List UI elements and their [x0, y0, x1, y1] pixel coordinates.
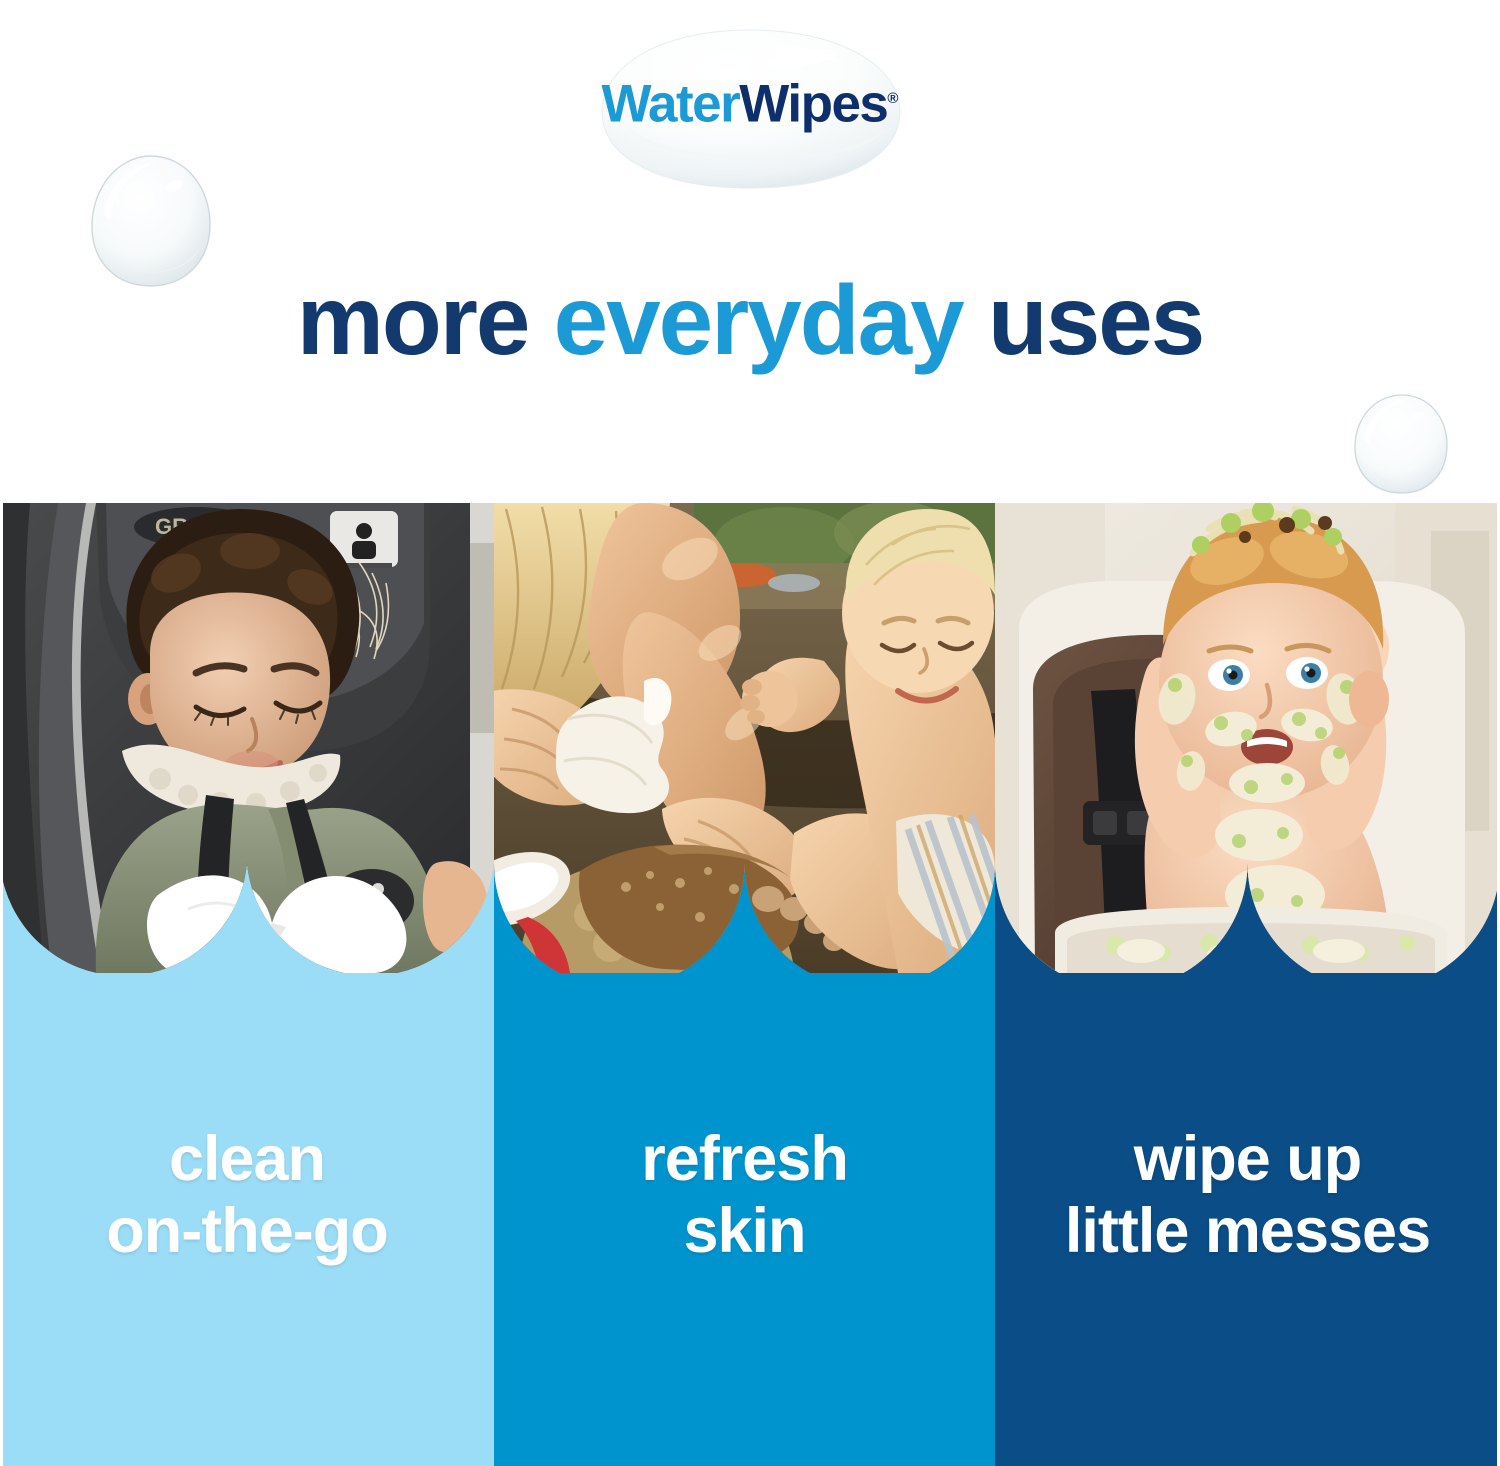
caption-line-1: refresh [494, 1123, 995, 1195]
panel-caption-clean-on-the-go: clean on-the-go [0, 1123, 494, 1267]
panel-clean-on-the-go[interactable]: GRACO [0, 503, 494, 1466]
logo-word-wipes: Wipes [739, 75, 887, 134]
brand-wordmark: WaterWipes® [540, 70, 960, 134]
panel-wipe-up-little-messes[interactable]: wipe up little messes [995, 503, 1500, 1466]
everyday-uses-panels: GRACO [0, 503, 1500, 1466]
caption-line-1: clean [0, 1123, 494, 1195]
headline-word-uses: uses [988, 265, 1203, 375]
header-section: WaterWipes® more everyday uses [0, 0, 1500, 503]
registered-trademark-icon: ® [887, 90, 898, 107]
caption-line-1: wipe up [995, 1123, 1500, 1195]
panel-caption-wipe-up-little-messes: wipe up little messes [995, 1123, 1500, 1267]
caption-line-2: little messes [995, 1195, 1500, 1267]
panel-caption-refresh-skin: refresh skin [494, 1123, 995, 1267]
logo-word-water: Water [602, 75, 740, 134]
caption-line-2: on-the-go [0, 1195, 494, 1267]
photo-car-seat-toddler: GRACO [0, 503, 494, 973]
water-droplet-icon-secondary [1352, 392, 1450, 496]
headline-word-more: more [297, 265, 529, 375]
page-title: more everyday uses [0, 268, 1500, 372]
photo-messy-highchair-baby [995, 503, 1500, 973]
page-gutter-left [0, 503, 3, 1466]
caption-line-2: skin [494, 1195, 995, 1267]
brand-logo: WaterWipes® [540, 24, 960, 194]
panel-refresh-skin[interactable]: refresh skin [494, 503, 995, 1466]
photo-beach-foot-wipe [494, 503, 995, 973]
headline-word-everyday: everyday [554, 265, 963, 375]
